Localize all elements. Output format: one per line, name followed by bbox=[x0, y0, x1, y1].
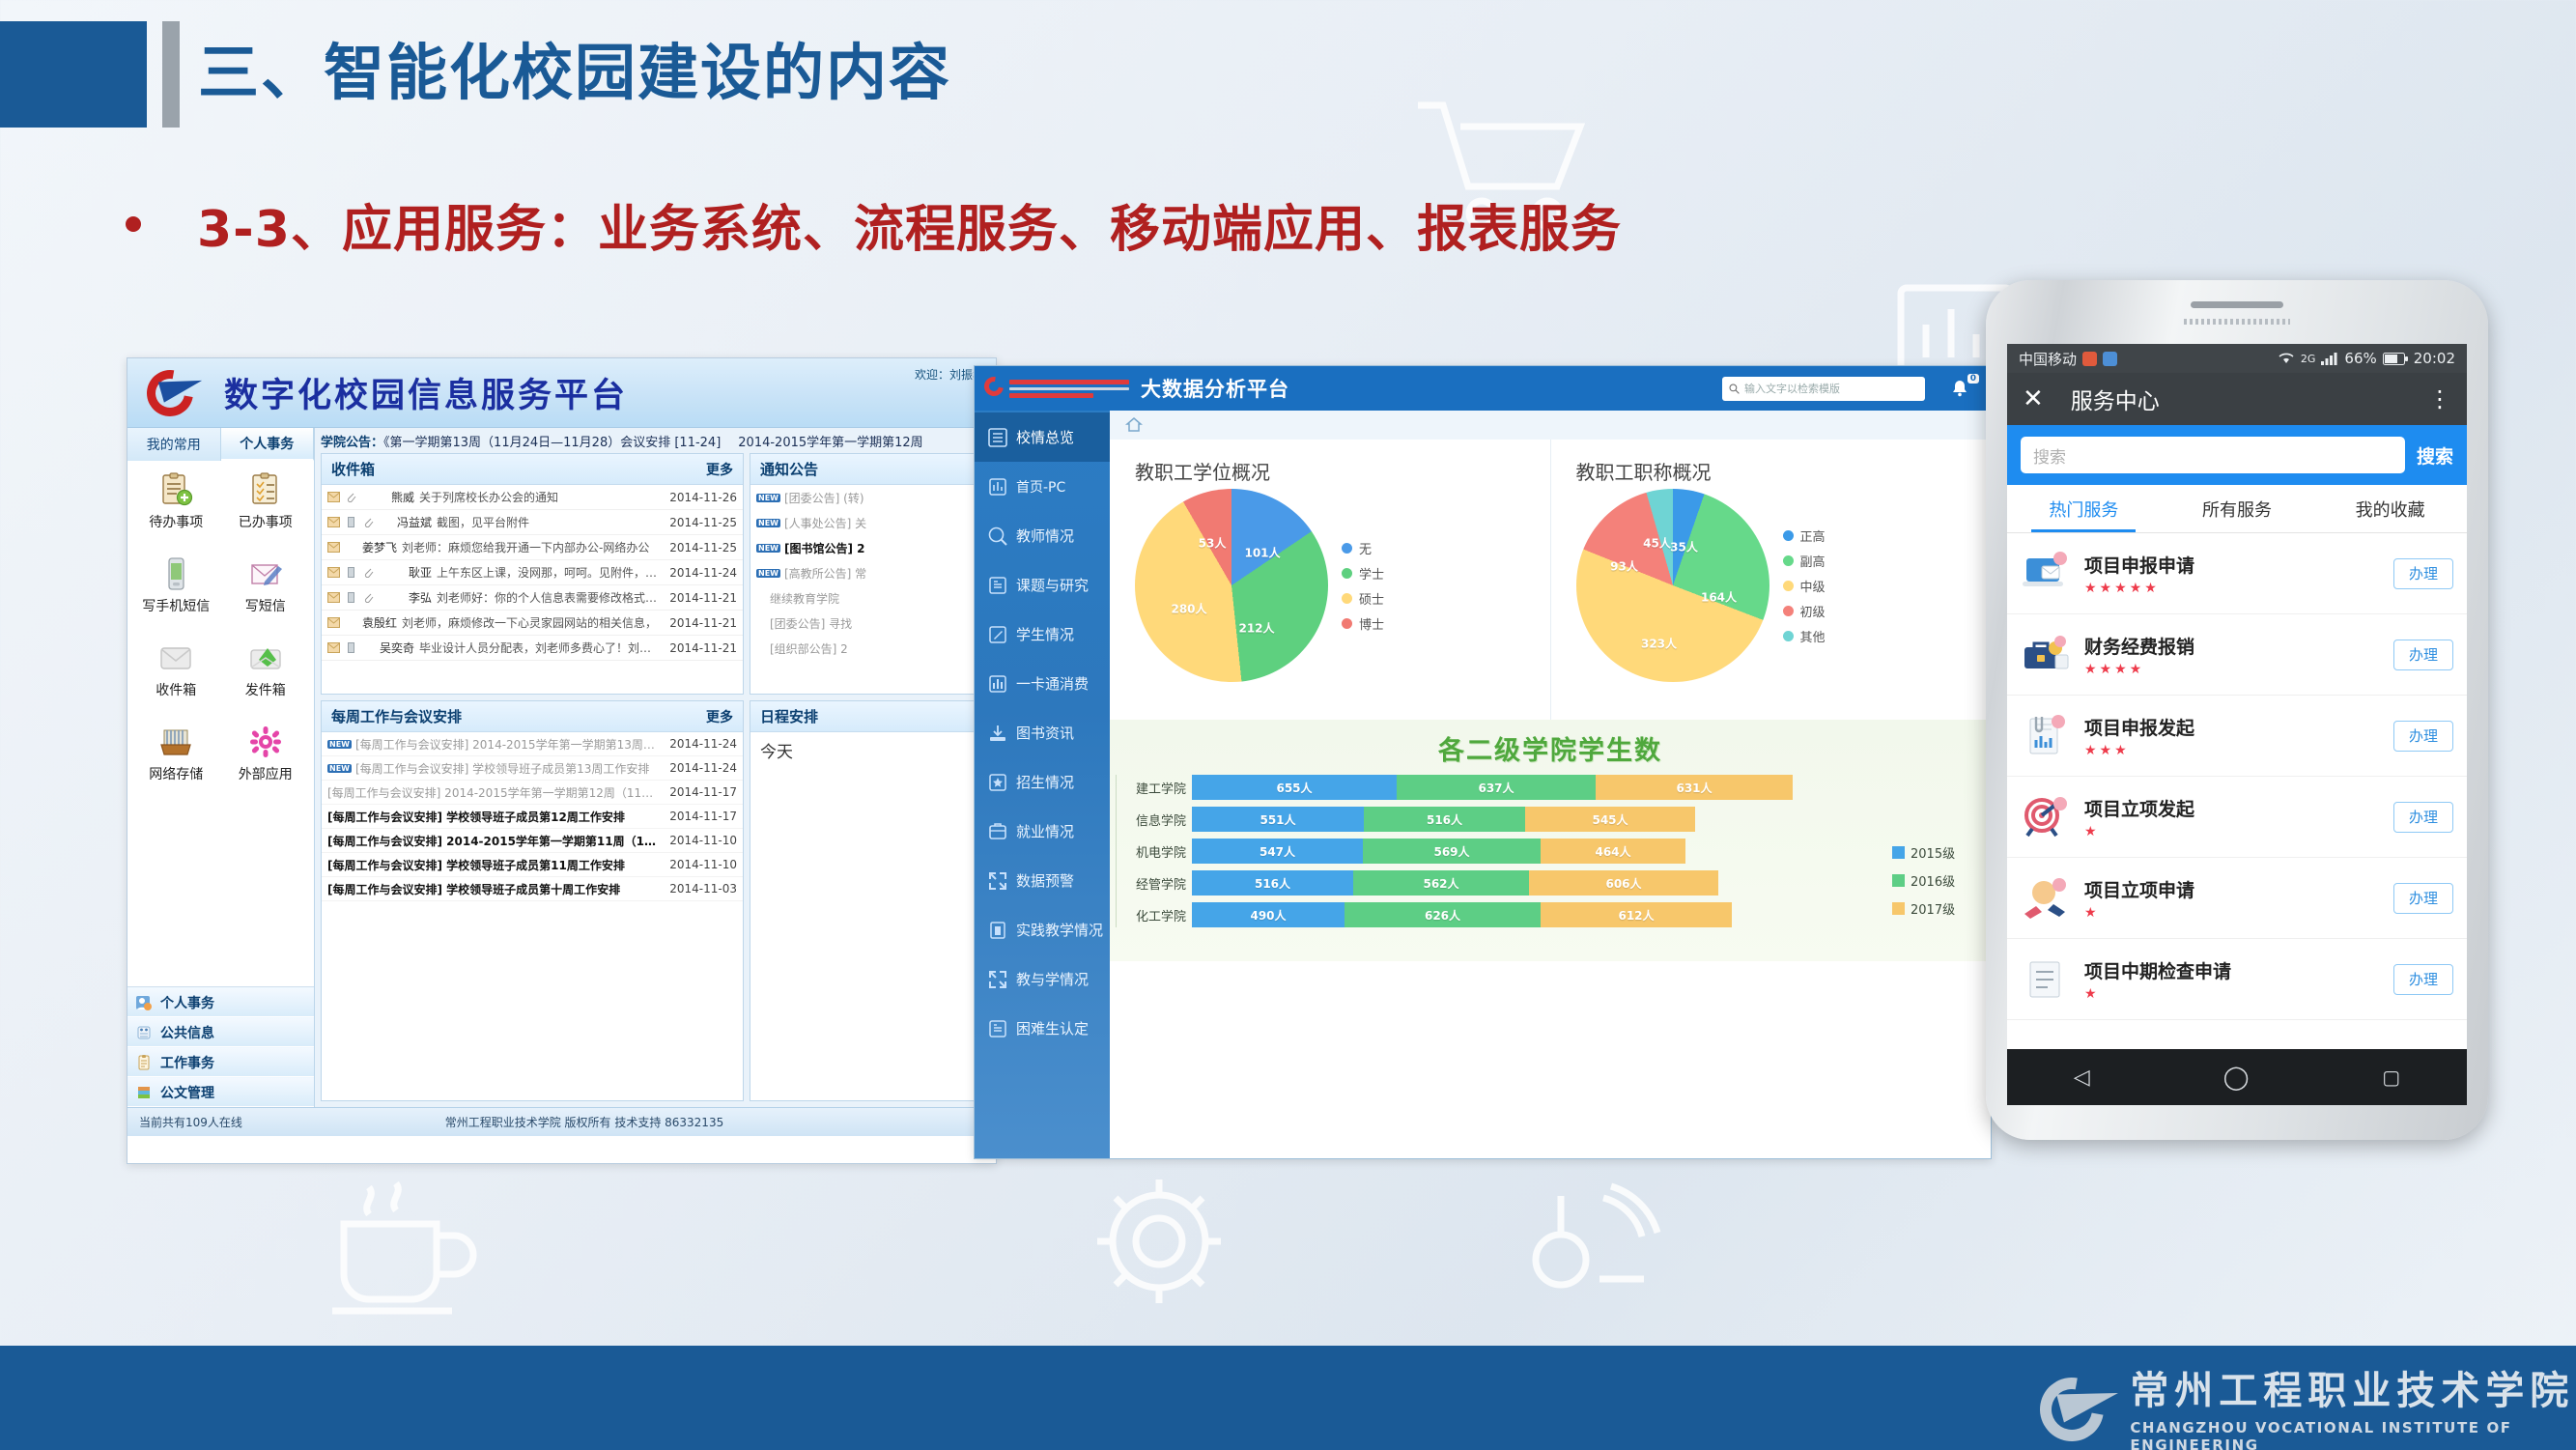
legend-item[interactable]: 学士 bbox=[1342, 564, 1384, 583]
weekly-date: 2014-11-17 bbox=[664, 785, 737, 799]
sidebar-item-label: 数据预警 bbox=[1016, 870, 1074, 891]
weekly-text: [每周工作与会议安排] 2014-2015学年第一学期第11周（11月10日—1 bbox=[327, 833, 660, 849]
sidebar-item-label: 教师情况 bbox=[1016, 526, 1074, 546]
shortcut-outbox[interactable]: 发件箱 bbox=[221, 640, 311, 725]
shortcut-write-mail[interactable]: 写短信 bbox=[221, 556, 311, 640]
legend-label: 学士 bbox=[1359, 564, 1384, 583]
legend-label: 初级 bbox=[1800, 602, 1826, 620]
shortcut-label: 发件箱 bbox=[245, 680, 286, 699]
attachment-icon bbox=[362, 517, 375, 527]
announcement-text: [高教所公告] 常 bbox=[784, 565, 983, 582]
new-badge: NEW bbox=[756, 494, 780, 502]
pie-chart: 101人 212人 280人 53人 bbox=[1135, 489, 1328, 682]
bigdata-logo-icon bbox=[984, 376, 1129, 401]
list-item[interactable]: 项目申报申请 ★★★★★ 办理 bbox=[2007, 533, 2467, 614]
rating-stars: ★★★★ bbox=[2084, 662, 2380, 677]
legend-label: 2017级 bbox=[1911, 899, 1955, 918]
attachment-icon bbox=[362, 567, 375, 578]
wifi-icon bbox=[2278, 352, 2295, 365]
bar-rows: 建工学院 655人 637人 631人 信息学院 551人 516人 bbox=[1116, 775, 1892, 927]
chart-college-students: 各二级学院学生数 建工学院 655人 637人 631人 信息学院 bbox=[1110, 720, 1991, 961]
bar-chart-icon bbox=[988, 674, 1007, 694]
sidebar-item-enrollment[interactable]: 招生情况 bbox=[975, 757, 1110, 807]
list-item[interactable]: NEW [图书馆公告] 2 bbox=[750, 535, 989, 560]
bar-category-label: 化工学院 bbox=[1117, 906, 1192, 924]
sidebar-item-label: 招生情况 bbox=[1016, 772, 1074, 792]
mail-sender: 吴奕奇 bbox=[362, 640, 414, 656]
list-item[interactable]: 继续教育学院 bbox=[750, 585, 989, 611]
announcement-text: [团委公告] (转) bbox=[784, 490, 983, 506]
school-logo: 常州工程职业技术学院 CHANGZHOU VOCATIONAL INSTITUT… bbox=[2036, 1359, 2576, 1450]
clock-time: 20:02 bbox=[2414, 350, 2455, 367]
report-clip-icon bbox=[2021, 711, 2071, 761]
home-icon[interactable] bbox=[1125, 416, 1143, 434]
list-item[interactable]: NEW [每周工作与会议安排] 2014-2015学年第一学期第13周（11月2… bbox=[322, 732, 743, 756]
bar-chart-legend: 2015级 2016级 2017级 bbox=[1892, 775, 1981, 927]
bar-category-label: 机电学院 bbox=[1117, 842, 1192, 861]
screenshot-campus-portal[interactable]: 数字化校园信息服务平台 欢迎：刘振华 我的常用 个人事务 待办事项 bbox=[127, 357, 997, 1164]
sidebar-item-personal-affairs[interactable]: 个人事务 bbox=[127, 987, 314, 1017]
weekly-date: 2014-11-10 bbox=[664, 834, 737, 847]
table-row[interactable]: 冯益斌 截图，见平台附件 2014-11-25 bbox=[322, 510, 743, 535]
attachment-icon bbox=[345, 492, 357, 502]
mail-date: 2014-11-26 bbox=[664, 491, 737, 504]
weekly-date: 2014-11-17 bbox=[664, 810, 737, 823]
new-badge: NEW bbox=[756, 569, 780, 578]
page-title: 三、智能化校园建设的内容 bbox=[198, 25, 951, 122]
weekly-text: [每周工作与会议安排] 学校领导班子成员第十周工作安排 bbox=[327, 881, 660, 897]
tab-all-services[interactable]: 所有服务 bbox=[2161, 485, 2314, 532]
list-item[interactable]: 财务经费报销 ★★★★ 办理 bbox=[2007, 614, 2467, 696]
tab-my-common[interactable]: 我的常用 bbox=[127, 428, 221, 461]
search-input[interactable]: 输入文字以检索模版 bbox=[1722, 377, 1925, 401]
list-item[interactable]: NEW [高教所公告] 常 bbox=[750, 560, 989, 585]
header-accent-block bbox=[0, 21, 147, 128]
building-icon bbox=[988, 921, 1007, 940]
bar-row: 经管学院 516人 562人 606人 bbox=[1117, 870, 1892, 896]
sidebar-item-overview[interactable]: 校情总览 bbox=[975, 412, 1110, 462]
list-item[interactable]: [每周工作与会议安排] 2014-2015学年第一学期第11周（11月10日—1… bbox=[322, 829, 743, 853]
chart-title: 教职工职称概况 bbox=[1576, 457, 1992, 485]
circle-home-icon[interactable]: ◯ bbox=[2223, 1064, 2250, 1091]
bar-category-label: 经管学院 bbox=[1117, 874, 1192, 893]
bar-row: 机电学院 547人 569人 464人 bbox=[1117, 839, 1892, 864]
pie-slice-label: 323人 bbox=[1641, 636, 1677, 652]
public-info-icon bbox=[135, 1024, 153, 1041]
mail-date: 2014-11-25 bbox=[664, 516, 737, 529]
slide-header: 三、智能化校园建设的内容 bbox=[0, 0, 2576, 145]
table-row[interactable]: 袁殷红 刘老师，麻烦修改一下心灵家园网站的相关信息， 2014-11-21 bbox=[322, 611, 743, 636]
mail-sender: 袁殷红 bbox=[345, 614, 397, 631]
pie-slice-label: 280人 bbox=[1171, 601, 1206, 617]
mail-date: 2014-11-24 bbox=[664, 566, 737, 580]
list-item[interactable]: NEW [团委公告] (转) bbox=[750, 485, 989, 510]
handle-button[interactable]: 办理 bbox=[2393, 721, 2453, 752]
shortcut-inbox[interactable]: 收件箱 bbox=[131, 640, 221, 725]
compose-mail-icon bbox=[248, 556, 283, 591]
new-badge: NEW bbox=[756, 519, 780, 527]
mail-subject: 上午东区上课，没网那，呵呵。见附件，请查收！ bbox=[437, 564, 659, 581]
shortcut-label: 外部应用 bbox=[239, 764, 293, 783]
online-count: 当前共有109人在线 bbox=[139, 1114, 242, 1130]
battery-icon bbox=[2383, 353, 2408, 365]
laptop-mail-icon bbox=[2021, 549, 2071, 599]
search-placeholder: 输入文字以检索模版 bbox=[1744, 381, 1840, 396]
shortcut-label: 写手机短信 bbox=[142, 596, 210, 615]
sidebar-item-doc-manage[interactable]: 公文管理 bbox=[127, 1077, 314, 1107]
weekly-list[interactable]: NEW [每周工作与会议安排] 2014-2015学年第一学期第13周（11月2… bbox=[322, 732, 743, 901]
pie-slice-label: 93人 bbox=[1610, 558, 1638, 575]
legend-item[interactable]: 博士 bbox=[1342, 614, 1384, 633]
portal-notice-bar[interactable]: 学院公告：《第一学期第13周（11月24日—11月28）会议安排 [11-24]… bbox=[315, 428, 996, 453]
sidebar-item-needy-students[interactable]: 困难生认定 bbox=[975, 1004, 1110, 1053]
legend-item[interactable]: 中级 bbox=[1783, 577, 1826, 595]
legend-item[interactable]: 无 bbox=[1342, 539, 1384, 557]
pie-chart: 35人 164人 323人 93人 45人 bbox=[1576, 489, 1769, 682]
subtitle-text: 3-3、应用服务：业务系统、流程服务、移动端应用、报表服务 bbox=[197, 188, 1622, 261]
tab-personal-affairs[interactable]: 个人事务 bbox=[221, 428, 315, 461]
announcements-list[interactable]: NEW [团委公告] (转) NEW [人事处公告] 关 NEW [图书馆公告]… bbox=[750, 485, 989, 661]
bell-icon bbox=[1950, 379, 1969, 398]
mail-icon bbox=[327, 592, 340, 603]
notice-label: 学院公告： bbox=[321, 436, 383, 450]
bar-segment: 655人 bbox=[1192, 775, 1397, 800]
legend-item[interactable]: 2015级 bbox=[1892, 843, 1981, 862]
service-name: 项目申报申请 bbox=[2084, 552, 2380, 578]
rating-stars: ★ bbox=[2084, 824, 2380, 839]
new-badge: NEW bbox=[327, 740, 352, 749]
service-name: 项目申报发起 bbox=[2084, 714, 2380, 740]
shortcut-todo[interactable]: 待办事项 bbox=[131, 472, 221, 556]
breadcrumb[interactable] bbox=[1110, 411, 1991, 440]
bar-row: 建工学院 655人 637人 631人 bbox=[1117, 775, 1892, 800]
shortcut-label: 已办事项 bbox=[239, 512, 293, 531]
shortcut-label: 待办事项 bbox=[149, 512, 203, 531]
shortcut-write-sms[interactable]: 写手机短信 bbox=[131, 556, 221, 640]
mail-icon bbox=[327, 542, 340, 553]
work-task-icon bbox=[135, 1054, 153, 1071]
bar-segment: 569人 bbox=[1363, 839, 1541, 864]
mail-subject: 毕业设计人员分配表，刘老师多费心了！刘振华老 bbox=[419, 640, 659, 656]
pie-slice-label: 45人 bbox=[1643, 535, 1671, 552]
chart-legend: 无 学士 硕士 博士 bbox=[1342, 539, 1384, 633]
bigdata-sidebar[interactable]: 校情总览 首页-PC 教师情况 课题与研究 学生情况 一卡通消费 bbox=[975, 411, 1110, 1159]
chart-title: 教职工学位概况 bbox=[1135, 457, 1550, 485]
handle-button[interactable]: 办理 bbox=[2393, 558, 2453, 589]
star-icon bbox=[988, 773, 1007, 792]
bullet-dot-icon bbox=[126, 216, 141, 232]
sidebar-item-label: 教与学情况 bbox=[1016, 969, 1089, 989]
portal-sidebar[interactable]: 我的常用 个人事务 待办事项 bbox=[127, 428, 315, 1107]
announcements-title: 通知公告 bbox=[760, 459, 818, 479]
bigdata-header: 大数据分析平台 输入文字以检索模版 0 bbox=[975, 366, 1991, 411]
briefcase-icon bbox=[988, 822, 1007, 841]
sidebar-item-label: 就业情况 bbox=[1016, 821, 1074, 841]
bar-row: 信息学院 551人 516人 545人 bbox=[1117, 807, 1892, 832]
shortcut-storage[interactable]: 网络存储 bbox=[131, 725, 221, 809]
sidebar-item-label: 学生情况 bbox=[1016, 624, 1074, 644]
school-name-en: CHANGZHOU VOCATIONAL INSTITUTE OF ENGINE… bbox=[2130, 1419, 2576, 1450]
bar-segment: 545人 bbox=[1525, 807, 1695, 832]
battery-percent: 66% bbox=[2344, 350, 2376, 367]
portal-shortcut-grid[interactable]: 待办事项 已办事项 写手机短信 bbox=[127, 461, 314, 986]
sidebar-item-employment[interactable]: 就业情况 bbox=[975, 807, 1110, 856]
legend-item[interactable]: 正高 bbox=[1783, 526, 1826, 545]
new-badge: NEW bbox=[327, 764, 352, 773]
table-row[interactable]: 姜梦飞 刘老师：麻烦您给我开通一下内部办公-网络办公 2014-11-25 bbox=[322, 535, 743, 560]
shortcut-label: 网络存储 bbox=[149, 764, 203, 783]
list-item[interactable]: [团委公告] 寻找 bbox=[750, 611, 989, 636]
legend-item[interactable]: 硕士 bbox=[1342, 589, 1384, 608]
inbox-more-link[interactable]: 更多 bbox=[706, 460, 733, 479]
notice-marquee: 《第一学期第13周（11月24日—11月28）会议安排 [11-24] bbox=[383, 436, 721, 450]
school-logo-icon bbox=[2036, 1370, 2112, 1443]
sidebar-item-teachers[interactable]: 教师情况 bbox=[975, 511, 1110, 560]
phone-mockup: 中国移动 2G 66% 20:02 ✕ 服务中心 ⋮ 搜索 搜索 热门服务 所有… bbox=[1986, 280, 2488, 1140]
weekly-date: 2014-11-24 bbox=[664, 737, 737, 751]
notice-extra: 2014-2015学年第一学期第12周 bbox=[738, 432, 922, 450]
attachment-icon bbox=[362, 592, 375, 603]
sidebar-item-students[interactable]: 学生情况 bbox=[975, 610, 1110, 659]
copyright: 常州工程职业技术学院 版权所有 技术支持 86332135 bbox=[445, 1114, 724, 1130]
inbox-panel: 收件箱 更多 熊威 关于列席校长办公会的通知 2014-11-26 bbox=[321, 453, 744, 695]
bar-segment: 637人 bbox=[1397, 775, 1596, 800]
mail-icon bbox=[327, 517, 340, 527]
mail-subject: 刘老师，麻烦修改一下心灵家园网站的相关信息， bbox=[402, 614, 659, 631]
table-row[interactable]: 耿亚 上午东区上课，没网那，呵呵。见附件，请查收！ 2014-11-24 bbox=[322, 560, 743, 585]
pie-slice-label: 53人 bbox=[1199, 535, 1227, 552]
announcement-text: 继续教育学院 bbox=[756, 590, 983, 607]
sidebar-item-label: 首页-PC bbox=[1016, 477, 1065, 497]
watermark-coffee-icon bbox=[319, 1174, 483, 1319]
mail-subject: 截图，见平台附件 bbox=[437, 514, 659, 530]
legend-label: 硕士 bbox=[1359, 589, 1384, 608]
list-item[interactable]: 项目立项发起 ★ 办理 bbox=[2007, 777, 2467, 858]
list-item[interactable]: [组织部公告] 2 bbox=[750, 636, 989, 661]
sidebar-item-label: 个人事务 bbox=[160, 993, 214, 1012]
list-item[interactable]: [每周工作与会议安排] 学校领导班子成员第11周工作安排 2014-11-10 bbox=[322, 853, 743, 877]
legend-item[interactable]: 2016级 bbox=[1892, 871, 1981, 890]
weekly-text: [每周工作与会议安排] 学校领导班子成员第13周工作安排 bbox=[355, 760, 660, 777]
list-item[interactable]: [每周工作与会议安排] 学校领导班子成员第12周工作安排 2014-11-17 bbox=[322, 805, 743, 829]
shortcut-external-app[interactable]: 外部应用 bbox=[221, 725, 311, 809]
legend-label: 无 bbox=[1359, 539, 1372, 557]
legend-label: 其他 bbox=[1800, 627, 1826, 645]
weekly-date: 2014-11-24 bbox=[664, 761, 737, 775]
target-dart-icon bbox=[2021, 792, 2071, 842]
clipboard-add-icon bbox=[158, 472, 193, 507]
notifications-button[interactable]: 0 bbox=[1950, 375, 1977, 402]
new-badge: NEW bbox=[756, 544, 780, 553]
list-item[interactable]: [每周工作与会议安排] 学校领导班子成员第十周工作安排 2014-11-03 bbox=[322, 877, 743, 901]
sidebar-item-research[interactable]: 课题与研究 bbox=[975, 560, 1110, 610]
pencil-icon bbox=[988, 625, 1007, 644]
slide-footer: 常州工程职业技术学院 CHANGZHOU VOCATIONAL INSTITUT… bbox=[0, 1346, 2576, 1450]
phone-tabs[interactable]: 热门服务 所有服务 我的收藏 bbox=[2007, 485, 2467, 533]
sidebar-item-work-affairs[interactable]: 工作事务 bbox=[127, 1047, 314, 1077]
portal-logo-icon bbox=[141, 366, 209, 420]
announcement-text: [图书馆公告] 2 bbox=[784, 540, 983, 556]
list-item[interactable]: 项目立项申请 ★ 办理 bbox=[2007, 858, 2467, 939]
mail-icon bbox=[327, 617, 340, 628]
portal-sidebar-tabs[interactable]: 我的常用 个人事务 bbox=[127, 428, 314, 461]
legend-label: 2015级 bbox=[1911, 843, 1955, 862]
mail-icon bbox=[327, 642, 340, 653]
handshake-icon bbox=[2021, 873, 2071, 924]
weekly-text: [每周工作与会议安排] 2014-2015学年第一学期第12周（11月17日—1 bbox=[327, 784, 660, 801]
table-row[interactable]: 李弘 刘老师好：你的个人信息表需要修改格式，请参照 2014-11-21 bbox=[322, 585, 743, 611]
mail-sender: 姜梦飞 bbox=[345, 539, 397, 555]
screenshot-bigdata-platform[interactable]: 大数据分析平台 输入文字以检索模版 0 校情总览 首页-PC 教师情况 bbox=[974, 365, 1992, 1159]
sidebar-item-label: 课题与研究 bbox=[1016, 575, 1089, 595]
bar-segment: 547人 bbox=[1192, 839, 1363, 864]
sidebar-item-label: 实践教学情况 bbox=[1016, 920, 1103, 940]
mail-subject: 刘老师：麻烦您给我开通一下内部办公-网络办公 bbox=[402, 539, 659, 555]
mail-icon bbox=[327, 567, 340, 578]
list-item[interactable]: [每周工作与会议安排] 2014-2015学年第一学期第12周（11月17日—1… bbox=[322, 781, 743, 805]
sidebar-item-teaching-learning[interactable]: 教与学情况 bbox=[975, 954, 1110, 1004]
sidebar-item-label: 公共信息 bbox=[160, 1023, 214, 1042]
schedule-today: 今天 bbox=[750, 732, 989, 768]
phone-icon bbox=[345, 567, 357, 578]
mail-subject: 关于列席校长办公会的通知 bbox=[419, 489, 659, 505]
weekly-header: 每周工作与会议安排 更多 bbox=[322, 701, 743, 732]
phone-icon bbox=[345, 517, 357, 527]
app-badge-icon bbox=[2082, 352, 2097, 366]
list-item[interactable]: NEW [每周工作与会议安排] 学校领导班子成员第13周工作安排 2014-11… bbox=[322, 756, 743, 781]
header-accent-bar bbox=[162, 21, 180, 128]
phone-screen[interactable]: 中国移动 2G 66% 20:02 ✕ 服务中心 ⋮ 搜索 搜索 热门服务 所有… bbox=[2007, 344, 2467, 1049]
list-item[interactable]: 项目申报发起 ★★★ 办理 bbox=[2007, 696, 2467, 777]
sidebar-item-card-consumption[interactable]: 一卡通消费 bbox=[975, 659, 1110, 708]
handle-button[interactable]: 办理 bbox=[2393, 640, 2453, 670]
rating-stars: ★★★★★ bbox=[2084, 581, 2380, 596]
list-item[interactable]: NEW [人事处公告] 关 bbox=[750, 510, 989, 535]
sidebar-item-library[interactable]: 图书资讯 bbox=[975, 708, 1110, 757]
service-name: 财务经费报销 bbox=[2084, 633, 2380, 659]
portal-sidebar-menu[interactable]: 个人事务 公共信息 工作事务 bbox=[127, 986, 314, 1107]
sidebar-item-practical-teaching[interactable]: 实践教学情况 bbox=[975, 905, 1110, 954]
pie-slice-label: 164人 bbox=[1701, 589, 1737, 606]
bar-segment: 626人 bbox=[1345, 902, 1541, 927]
chart-title-overview: 教职工职称概况 35人 164人 323人 93人 45人 正高 副高 中级 bbox=[1550, 440, 1992, 720]
sidebar-item-label: 工作事务 bbox=[160, 1053, 214, 1072]
triangle-back-icon[interactable]: ◁ bbox=[2074, 1066, 2090, 1090]
book-icon bbox=[988, 576, 1007, 595]
legend-label: 中级 bbox=[1800, 577, 1826, 595]
inbox-title: 收件箱 bbox=[331, 459, 375, 479]
service-name: 项目立项发起 bbox=[2084, 795, 2380, 821]
search-placeholder: 搜索 bbox=[2033, 443, 2066, 468]
list-icon bbox=[988, 428, 1007, 447]
download-icon bbox=[988, 724, 1007, 743]
inbox-list[interactable]: 熊威 关于列席校长办公会的通知 2014-11-26 冯益斌 截图，见平台附件 bbox=[322, 485, 743, 661]
overflow-menu-icon[interactable]: ⋮ bbox=[2428, 392, 2451, 406]
announcements-panel: 通知公告 NEW [团委公告] (转) NEW [人事处公告] 关 bbox=[750, 453, 990, 695]
sidebar-item-data-alert[interactable]: 数据预警 bbox=[975, 856, 1110, 905]
table-row[interactable]: 熊威 关于列席校长办公会的通知 2014-11-26 bbox=[322, 485, 743, 510]
phone-status-bar: 中国移动 2G 66% 20:02 bbox=[2007, 344, 2467, 373]
app-title: 服务中心 bbox=[2071, 383, 2160, 415]
sidebar-item-public-info[interactable]: 公共信息 bbox=[127, 1017, 314, 1047]
rating-stars: ★★★ bbox=[2084, 743, 2380, 758]
list-item[interactable]: 项目中期检查申请 ★ 办理 bbox=[2007, 939, 2467, 1020]
bar-segment: 612人 bbox=[1541, 902, 1732, 927]
sidebar-item-home-pc[interactable]: 首页-PC bbox=[975, 462, 1110, 511]
bar-row: 化工学院 490人 626人 612人 bbox=[1117, 902, 1892, 927]
watermark-gear-icon bbox=[1091, 1174, 1227, 1309]
phone-nav-bar[interactable]: ◁ ◯ ▢ bbox=[2007, 1049, 2467, 1105]
bar-segment: 516人 bbox=[1192, 870, 1353, 896]
phone-icon bbox=[345, 592, 357, 603]
sidebar-item-label: 图书资讯 bbox=[1016, 723, 1074, 743]
schedule-header: 日程安排 bbox=[750, 701, 989, 732]
chart-legend: 正高 副高 中级 初级 其他 bbox=[1783, 526, 1826, 645]
shortcut-label: 收件箱 bbox=[156, 680, 196, 699]
rating-stars: ★ bbox=[2084, 905, 2380, 921]
handle-button[interactable]: 办理 bbox=[2393, 802, 2453, 833]
mail-icon bbox=[327, 492, 340, 502]
announcement-text: [人事处公告] 关 bbox=[784, 515, 983, 531]
tab-hot-services[interactable]: 热门服务 bbox=[2007, 485, 2161, 532]
mobile-phone-icon bbox=[158, 556, 193, 591]
weekly-text: [每周工作与会议安排] 2014-2015学年第一学期第13周（11月24日—1 bbox=[355, 736, 660, 753]
chart-page-icon bbox=[988, 477, 1007, 497]
weekly-more-link[interactable]: 更多 bbox=[706, 707, 733, 726]
handle-button[interactable]: 办理 bbox=[2393, 964, 2453, 995]
signal-bars-icon bbox=[2321, 352, 2338, 365]
chart-degree-overview: 教职工学位概况 101人 212人 280人 53人 无 学士 硕士 博士 bbox=[1110, 440, 1550, 720]
portal-main: 学院公告：《第一学期第13周（11月24日—11月28）会议安排 [11-24]… bbox=[315, 428, 996, 1107]
legend-label: 正高 bbox=[1800, 526, 1826, 545]
bar-segment: 631人 bbox=[1596, 775, 1793, 800]
bar-segment: 464人 bbox=[1541, 839, 1685, 864]
network-type: 2G bbox=[2301, 353, 2316, 365]
expand-icon bbox=[988, 970, 1007, 989]
legend-item[interactable]: 初级 bbox=[1783, 602, 1826, 620]
close-icon[interactable]: ✕ bbox=[2023, 386, 2044, 412]
weekly-text: [每周工作与会议安排] 学校领导班子成员第12周工作安排 bbox=[327, 809, 660, 825]
service-name: 项目立项申请 bbox=[2084, 876, 2380, 902]
shortcut-done[interactable]: 已办事项 bbox=[221, 472, 311, 556]
search-input[interactable]: 搜索 bbox=[2021, 437, 2405, 473]
portal-header: 数字化校园信息服务平台 欢迎：刘振华 bbox=[127, 358, 996, 428]
rating-stars: ★ bbox=[2084, 986, 2380, 1002]
weekly-date: 2014-11-10 bbox=[664, 858, 737, 871]
mail-date: 2014-11-21 bbox=[664, 591, 737, 605]
legend-item[interactable]: 2017级 bbox=[1892, 899, 1981, 918]
document-manage-icon bbox=[135, 1084, 153, 1101]
tab-my-favorites[interactable]: 我的收藏 bbox=[2313, 485, 2467, 532]
weekly-text: [每周工作与会议安排] 学校领导班子成员第11周工作安排 bbox=[327, 857, 660, 873]
mail-date: 2014-11-21 bbox=[664, 616, 737, 630]
square-recents-icon[interactable]: ▢ bbox=[2382, 1066, 2400, 1089]
legend-item[interactable]: 副高 bbox=[1783, 552, 1826, 570]
bar-category-label: 建工学院 bbox=[1117, 779, 1192, 797]
search-icon bbox=[1729, 384, 1740, 394]
handle-button[interactable]: 办理 bbox=[2393, 883, 2453, 914]
phone-service-list[interactable]: 项目申报申请 ★★★★★ 办理 财务经费报销 ★★★★ 办理 bbox=[2007, 533, 2467, 1020]
table-row[interactable]: 吴奕奇 毕业设计人员分配表，刘老师多费心了！刘振华老 2014-11-21 bbox=[322, 636, 743, 661]
pie-slice-label: 212人 bbox=[1238, 620, 1274, 637]
phone-grille bbox=[2184, 319, 2290, 325]
chart-title: 各二级学院学生数 bbox=[1110, 729, 1991, 767]
carrier-label: 中国移动 bbox=[2019, 349, 2077, 369]
legend-item[interactable]: 其他 bbox=[1783, 627, 1826, 645]
phone-search-bar[interactable]: 搜索 搜索 bbox=[2007, 425, 2467, 485]
search-button[interactable]: 搜索 bbox=[2417, 442, 2453, 469]
pie-slice-label: 35人 bbox=[1670, 539, 1698, 555]
